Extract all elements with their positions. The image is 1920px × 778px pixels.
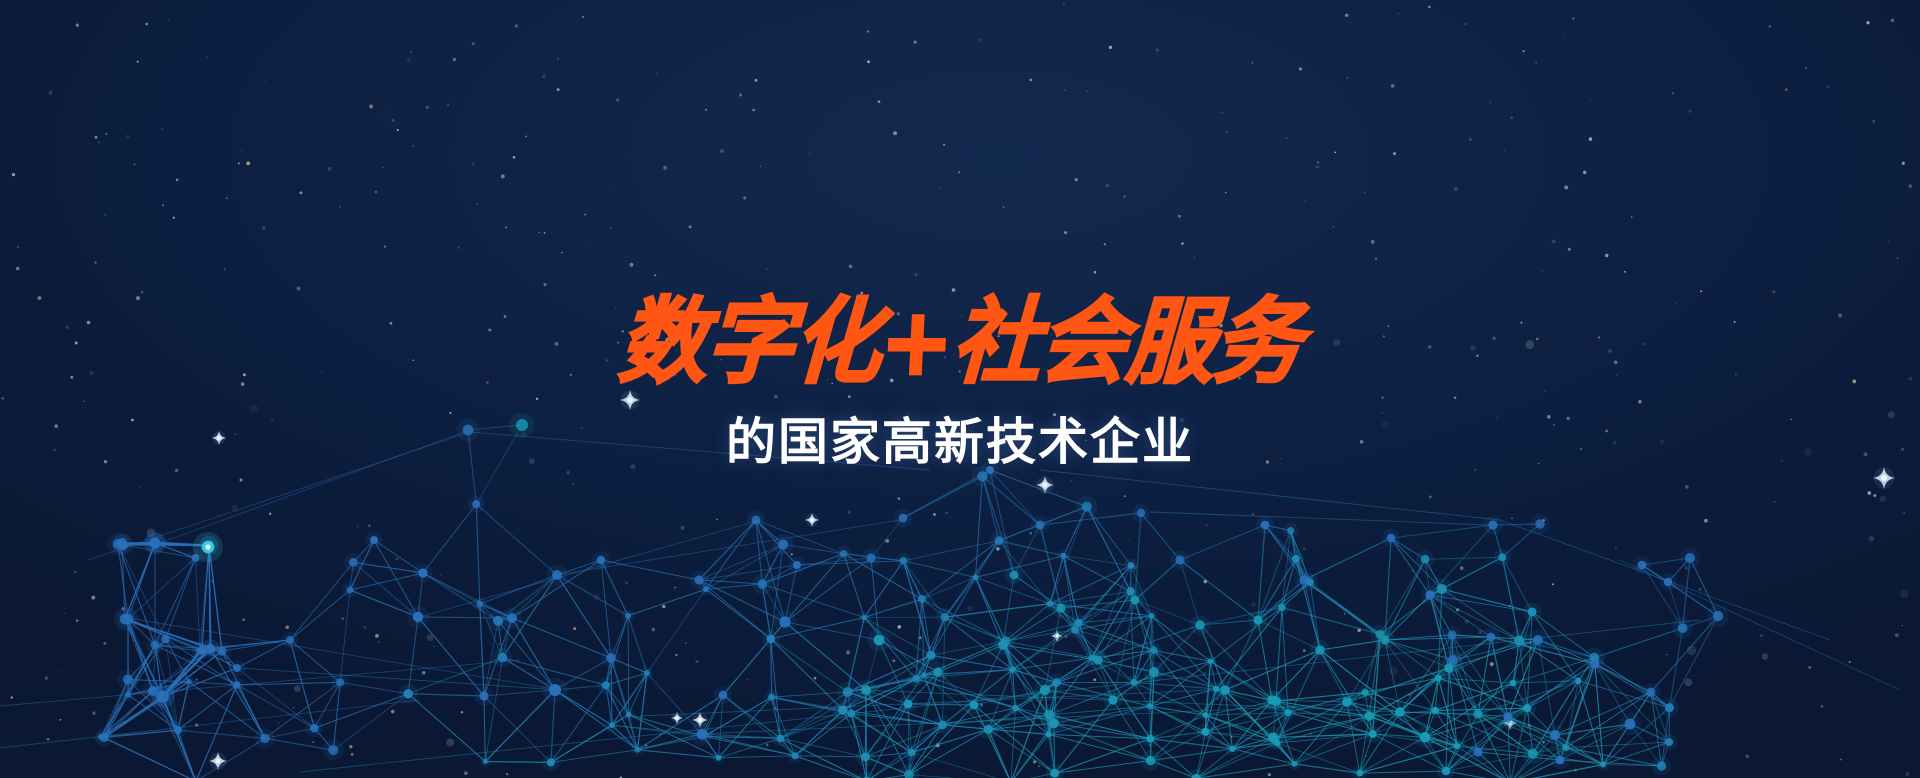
page-subtitle: 的国家高新技术企业 xyxy=(726,402,1194,474)
page-title: 数字化+社会服务 xyxy=(617,297,1303,387)
banner-text-block: 数字化+社会服务 的国家高新技术企业 xyxy=(0,0,1920,778)
hero-banner: 数字化+社会服务 的国家高新技术企业 xyxy=(0,0,1920,778)
